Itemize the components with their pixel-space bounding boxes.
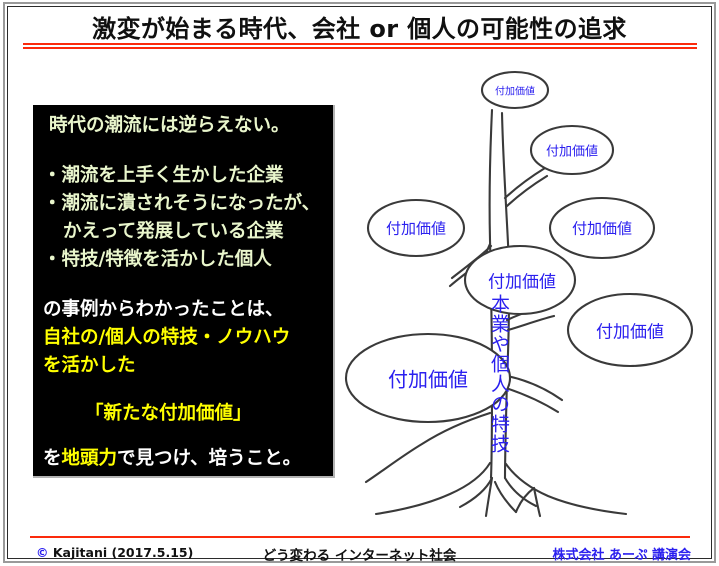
- value-node-label-upper-right: 付加価値: [546, 141, 598, 160]
- slide-title: 激変が始まる時代、会社 or 個人の可能性の追求: [0, 9, 719, 44]
- footer-right-text: 株式会社 あーぷ 講演会: [552, 544, 691, 563]
- panel-conclusion-line-1: の事例からわかったことは、: [43, 301, 284, 320]
- panel-bullet-1: ・潮流を上手く生かした企業: [43, 167, 284, 186]
- key-message-panel: 時代の潮流には逆らえない。 ・潮流を上手く生かした企業 ・潮流に潰されそうになっ…: [33, 105, 335, 478]
- panel-quote: 「新たな付加価値」: [85, 405, 252, 424]
- value-node-label-top: 付加価値: [495, 83, 535, 98]
- footer-divider: [30, 536, 690, 538]
- panel-conclusion-line-3: を活かした: [43, 357, 136, 376]
- title-underline-bottom: [23, 47, 697, 49]
- panel-final-line: を地頭力で見つけ、培うこと。: [43, 450, 301, 469]
- panel-conclusion-line-2: 自社の/個人の特技・ノウハウ: [43, 329, 290, 348]
- panel-bullet-2: ・潮流に潰されそうになったが、: [43, 195, 320, 214]
- slide-canvas: 激変が始まる時代、会社 or 個人の可能性の追求 時代の潮流には逆らえない。 ・…: [0, 0, 719, 566]
- value-node-label-big-right: 付加価値: [596, 318, 664, 343]
- panel-bullet-3: ・特技/特徴を活かした個人: [43, 251, 272, 270]
- panel-heading: 時代の潮流には逆らえない。: [49, 117, 290, 136]
- trunk-label: 本業や個人の特技: [489, 294, 508, 454]
- value-node-label-center-right: 付加価値: [488, 268, 556, 293]
- value-tree-diagram: 付加価値 付加価値 付加価値 付加価値 付加価値 付加価値 付加価値 本業や個人…: [340, 58, 715, 523]
- panel-bullet-2-cont: かえって発展している企業: [63, 223, 284, 242]
- value-node-label-mid-right: 付加価値: [572, 218, 632, 239]
- title-underline-top: [23, 43, 697, 45]
- value-node-label-largest: 付加価値: [388, 364, 468, 393]
- panel-final-suffix: で見つけ、培うこと。: [117, 448, 301, 469]
- panel-final-highlight: 地頭力: [62, 448, 118, 469]
- value-node-label-upper-left: 付加価値: [386, 218, 446, 239]
- panel-final-prefix: を: [43, 448, 62, 469]
